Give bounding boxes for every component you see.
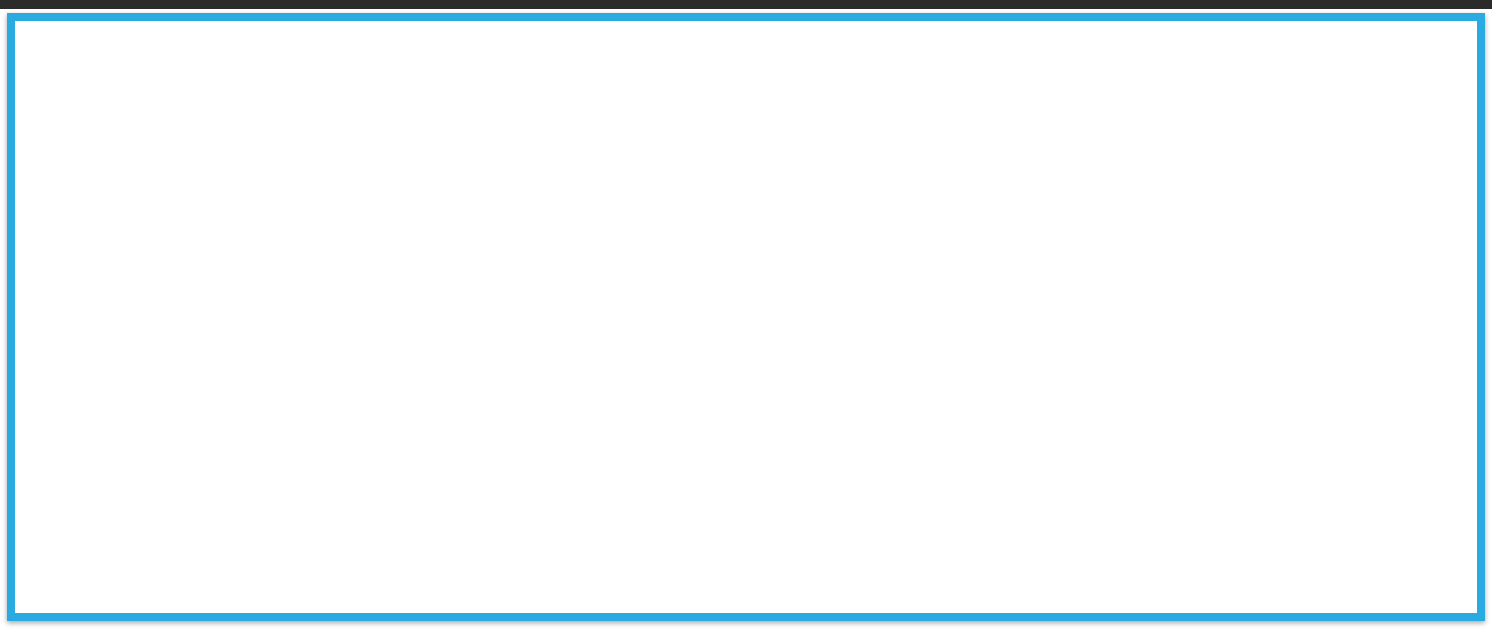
window-top-edge (0, 0, 1492, 9)
widget-body (15, 21, 1477, 613)
visitors-overview-widget (7, 13, 1485, 621)
screenshot-root (0, 0, 1492, 637)
